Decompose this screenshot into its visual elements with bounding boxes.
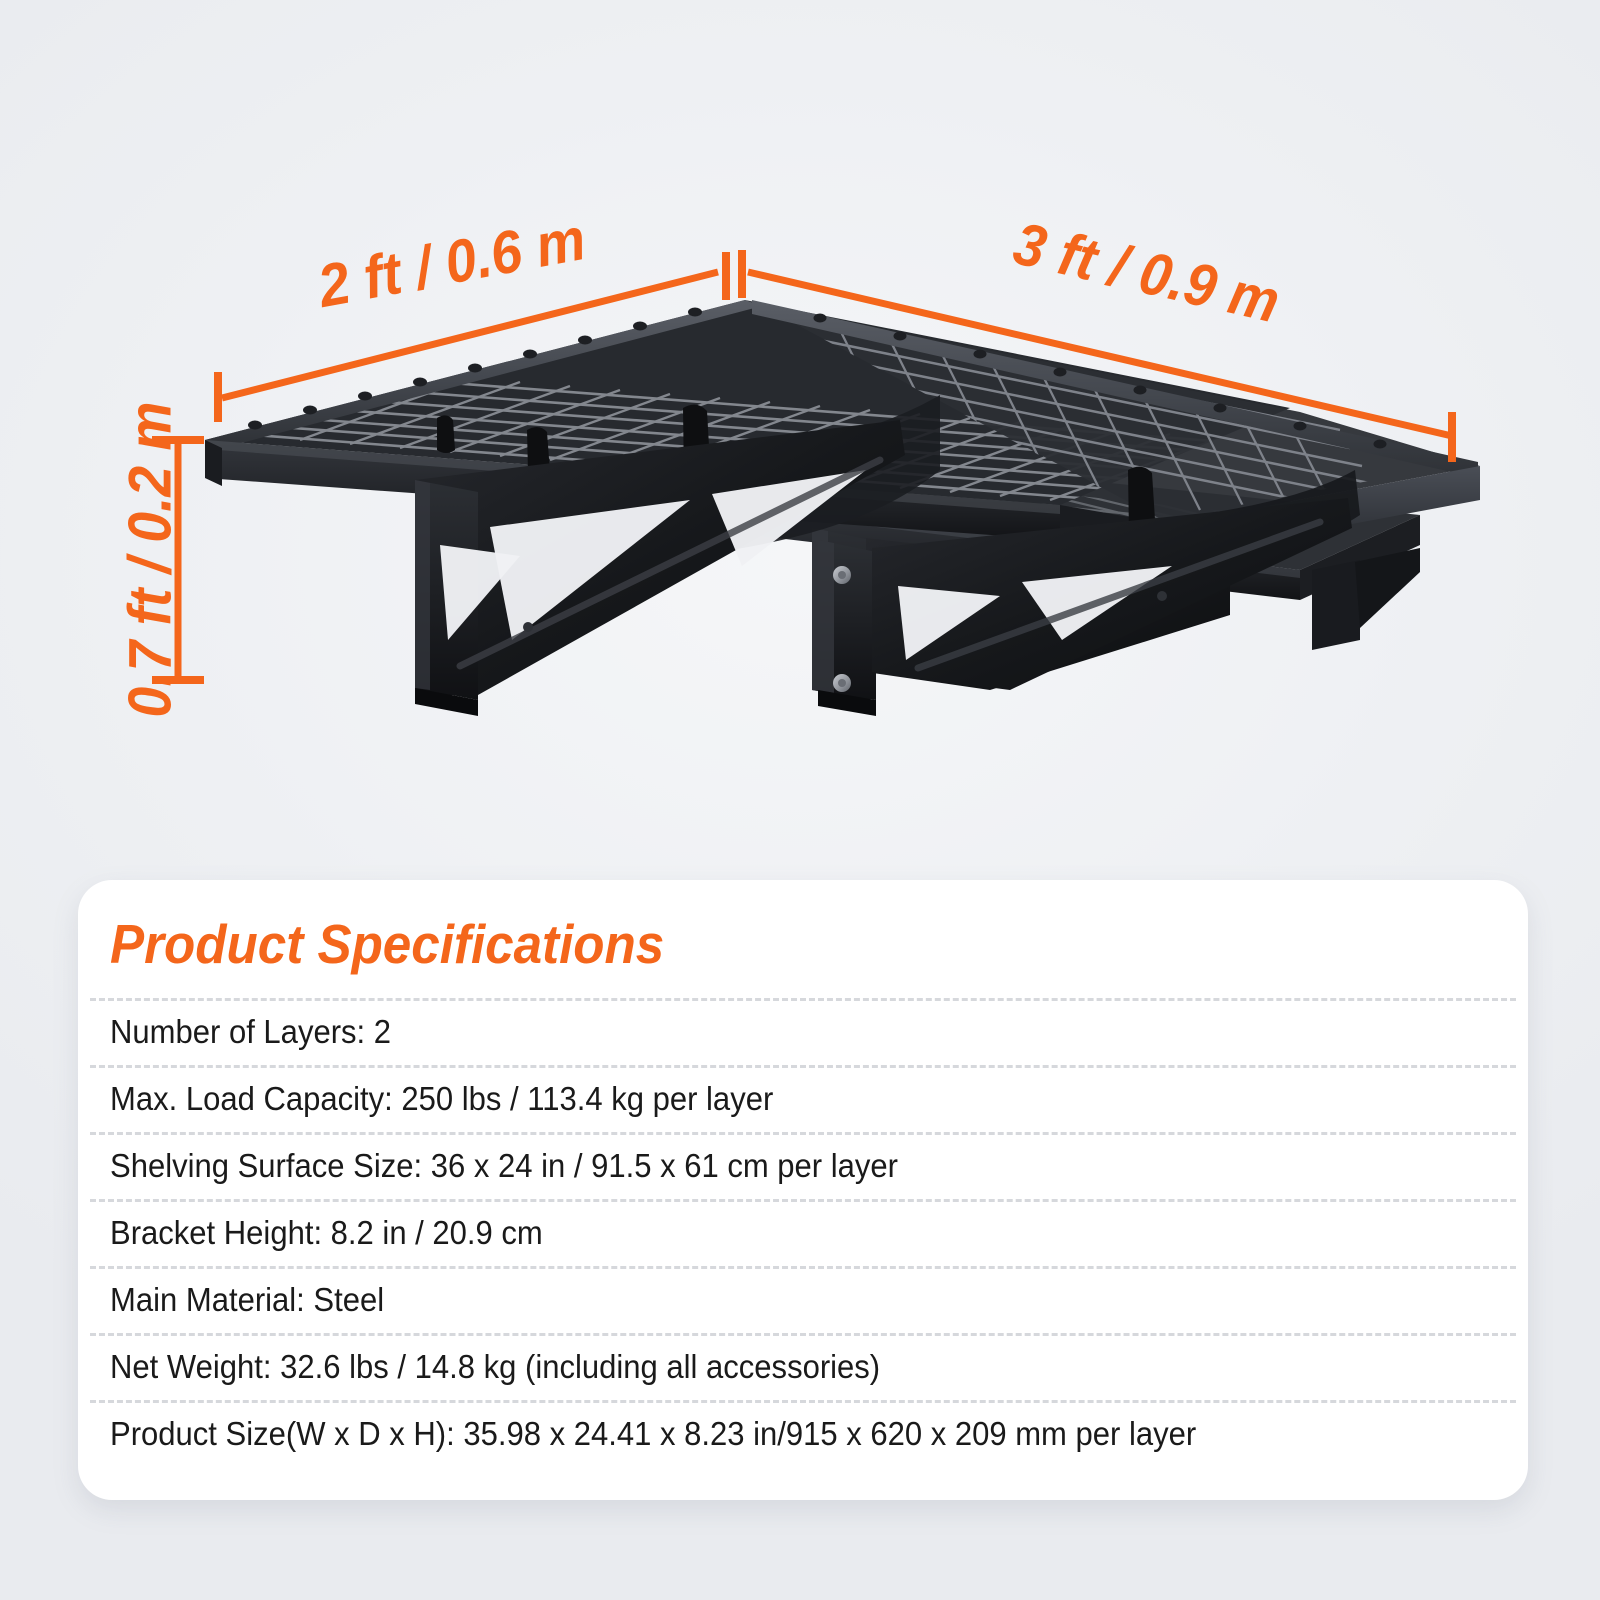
spec-row: Net Weight: 32.6 lbs / 14.8 kg (includin… [78, 1333, 1528, 1400]
product-image-area: 2 ft / 0.6 m 3 ft / 0.9 m 0.7 ft / 0.2 m [0, 0, 1600, 880]
spec-row: Shelving Surface Size: 36 x 24 in / 91.5… [78, 1132, 1528, 1199]
spec-row: Main Material: Steel [78, 1266, 1528, 1333]
spec-row-text: Bracket Height: 8.2 in / 20.9 cm [110, 1216, 543, 1249]
spec-row-text: Max. Load Capacity: 250 lbs / 113.4 kg p… [110, 1082, 773, 1115]
height-dimension-label: 0.7 ft / 0.2 m [116, 385, 185, 735]
spec-row-text: Number of Layers: 2 [110, 1015, 391, 1048]
page-title: Product Specifications [110, 912, 664, 976]
spec-row-text: Net Weight: 32.6 lbs / 14.8 kg (includin… [110, 1350, 880, 1383]
spec-row: Bracket Height: 8.2 in / 20.9 cm [78, 1199, 1528, 1266]
spec-row: Number of Layers: 2 [78, 998, 1528, 1065]
spec-row: Product Size(W x D x H): 35.98 x 24.41 x… [78, 1400, 1528, 1467]
specifications-list: Number of Layers: 2 Max. Load Capacity: … [78, 998, 1528, 1467]
spec-row-text: Product Size(W x D x H): 35.98 x 24.41 x… [110, 1417, 1196, 1450]
spec-row-text: Shelving Surface Size: 36 x 24 in / 91.5… [110, 1149, 898, 1182]
spec-row: Max. Load Capacity: 250 lbs / 113.4 kg p… [78, 1065, 1528, 1132]
spec-row-text: Main Material: Steel [110, 1283, 384, 1316]
product-specifications-card: Product Specifications Number of Layers:… [78, 880, 1528, 1500]
product-spec-page: 2 ft / 0.6 m 3 ft / 0.9 m 0.7 ft / 0.2 m… [0, 0, 1600, 1600]
shelf-illustration [0, 0, 1600, 880]
